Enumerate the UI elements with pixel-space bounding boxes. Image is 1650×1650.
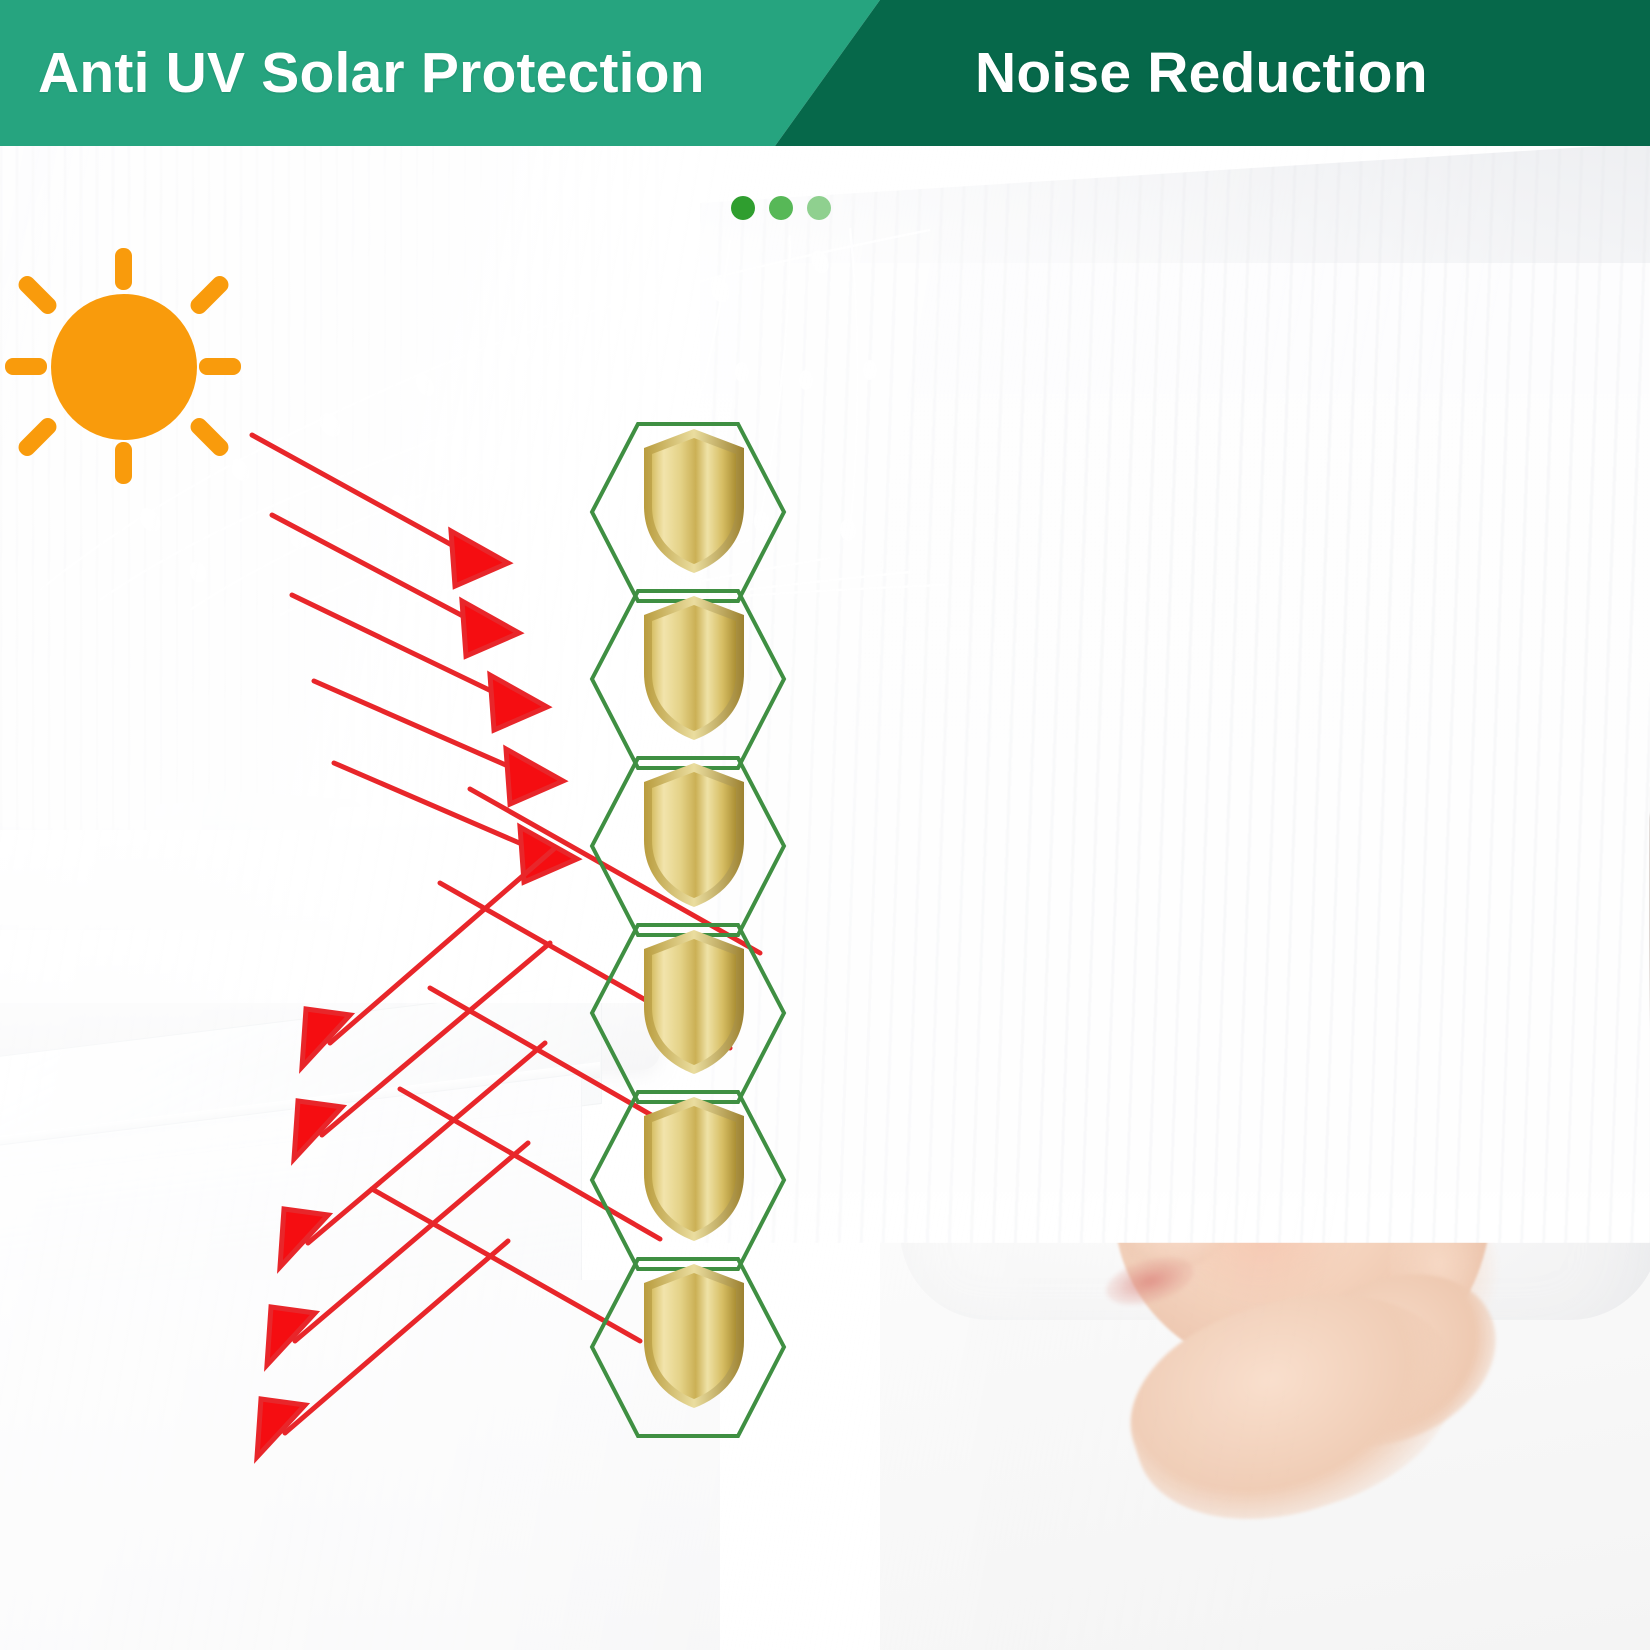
reflected-ray (302, 848, 555, 1067)
incoming-ray (292, 595, 547, 730)
hex-shield-cell (588, 754, 788, 939)
hex-shield-cell (588, 921, 788, 1106)
protection-barrier-column (588, 420, 808, 1430)
shield-icon (640, 426, 748, 576)
reflected-ray (257, 1241, 508, 1457)
hex-shield-cell (588, 420, 788, 605)
shield-icon (640, 1094, 748, 1244)
product-infographic: Anti UV Solar Protection Noise Reduction (0, 0, 1650, 1650)
reflected-ray (294, 943, 550, 1159)
shield-icon (640, 760, 748, 910)
hex-shield-cell (588, 1088, 788, 1273)
banner-right-title: Noise Reduction (975, 0, 1428, 146)
incoming-ray (252, 435, 508, 586)
hex-shield-cell (588, 1255, 788, 1440)
incoming-ray (272, 515, 519, 656)
feature-banner: Anti UV Solar Protection Noise Reduction (0, 0, 1650, 146)
banner-left-title: Anti UV Solar Protection (38, 0, 705, 146)
hex-shield-cell (588, 587, 788, 772)
reflected-ray (280, 1043, 545, 1267)
shield-icon (640, 927, 748, 1077)
shield-icon (640, 1261, 748, 1411)
shield-icon (640, 593, 748, 743)
